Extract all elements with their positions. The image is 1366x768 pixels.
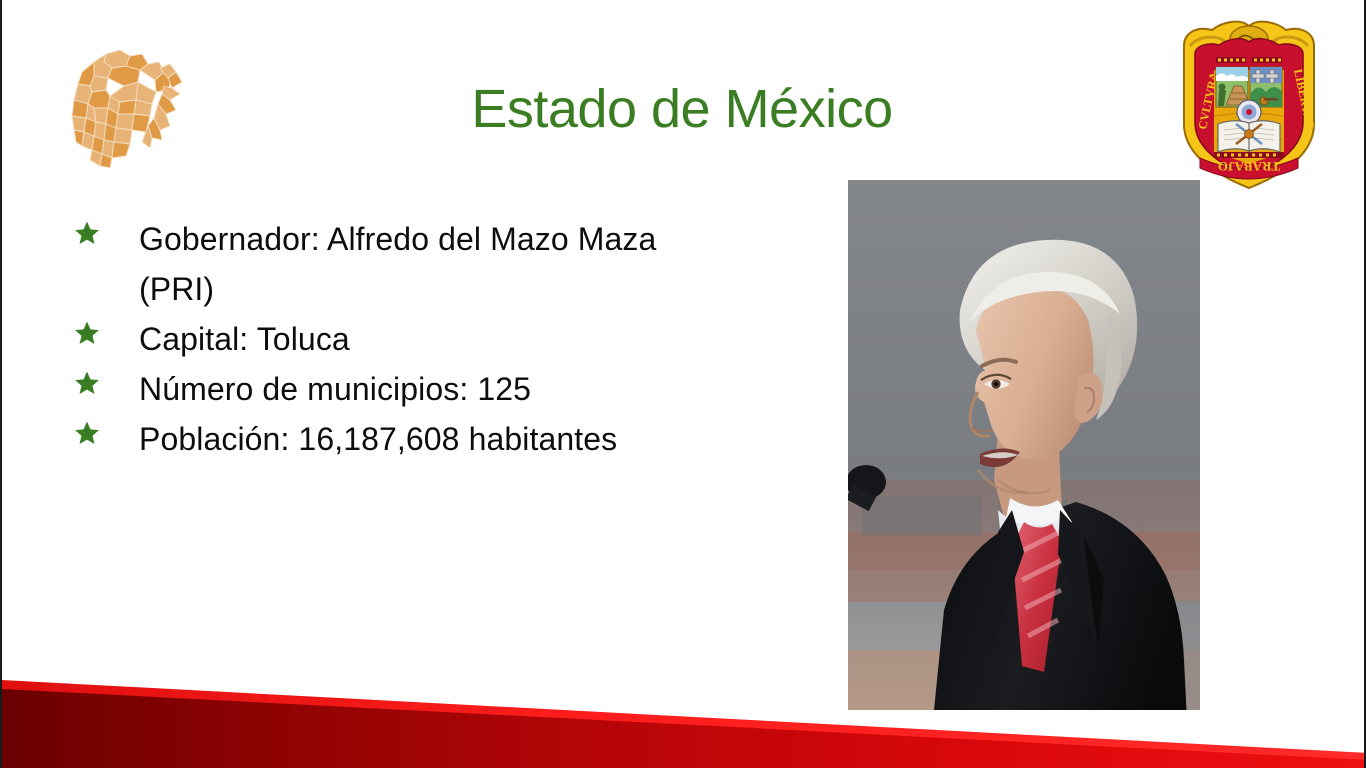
list-item: Gobernador: Alfredo del Mazo Maza (PRI) xyxy=(74,214,714,314)
list-item: Capital: Toluca xyxy=(74,314,714,364)
list-item-label: Número de municipios: 125 xyxy=(139,364,714,414)
list-item: Población: 16,187,608 habitantes xyxy=(74,414,714,464)
slide-title: Estado de México xyxy=(242,78,1122,140)
star-bullet-icon xyxy=(74,364,139,396)
motto-bottom-text: TRABAJO xyxy=(1218,159,1280,174)
list-item-label: Capital: Toluca xyxy=(139,314,714,364)
list-item-label: Población: 16,187,608 habitantes xyxy=(139,414,714,464)
list-item-label: Gobernador: Alfredo del Mazo Maza (PRI) xyxy=(139,214,714,314)
star-bullet-icon xyxy=(74,414,139,446)
bullet-list: Gobernador: Alfredo del Mazo Maza (PRI) … xyxy=(74,214,714,464)
governor-portrait-image xyxy=(848,180,1200,710)
estado-de-mexico-coat-of-arms-icon: CVLTVRA LIBERTAD xyxy=(1164,12,1334,192)
star-bullet-icon xyxy=(74,214,139,246)
star-bullet-icon xyxy=(74,314,139,346)
slide-canvas: Estado de México CVLTVRA LIBERTAD xyxy=(0,0,1366,768)
estado-de-mexico-municipalities-map-icon xyxy=(60,42,190,174)
list-item: Número de municipios: 125 xyxy=(74,364,714,414)
